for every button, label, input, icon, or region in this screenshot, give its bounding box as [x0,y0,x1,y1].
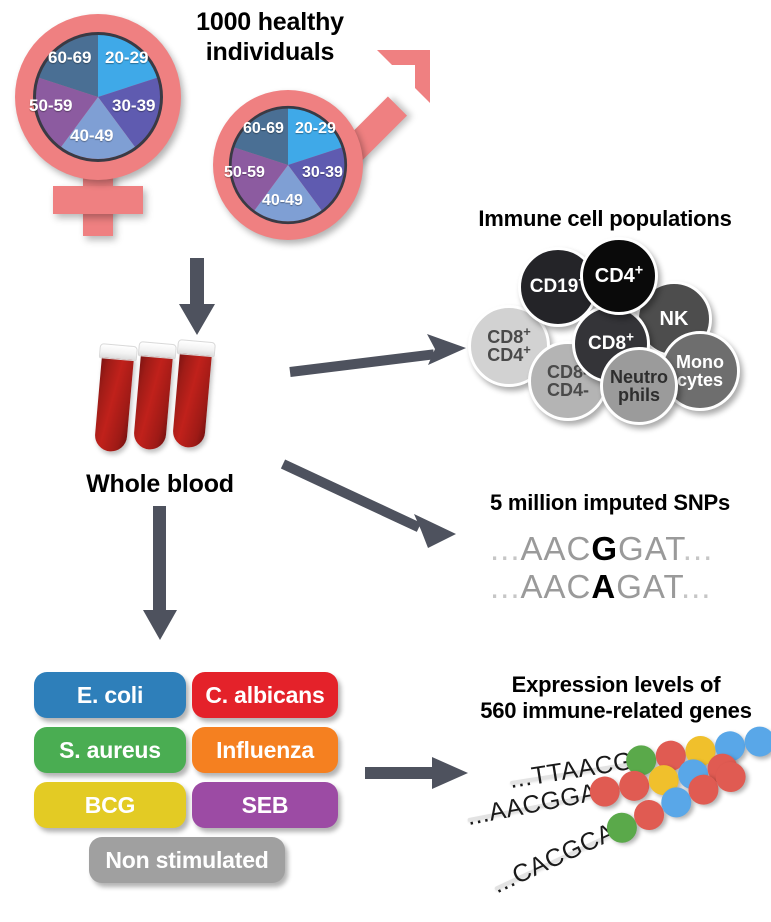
blood-tube-rim [99,343,138,361]
immune-cell-label: CD8+CD4+ [487,328,531,365]
female-slice-label-30-39: 30-39 [112,96,155,116]
stimulus-s-aureus[interactable]: S. aureus [34,727,186,773]
stimulus-e-coli[interactable]: E. coli [34,672,186,718]
blood-tube [171,339,218,452]
cohort-heading-line1: 1000 healthy [182,8,358,38]
blood-tube-body [172,350,212,448]
immune-cell-label: Neutrophils [610,368,668,405]
stimuli-panel: E. coli C. albicans S. aureus Influenza … [34,672,344,892]
blood-tube-body [94,354,134,452]
male-symbol: 20-29 30-39 40-49 50-59 60-69 [210,52,425,252]
stimulus-non-stimulated[interactable]: Non stimulated [89,837,285,883]
male-slice-label-30-39: 30-39 [302,164,343,182]
blood-tube-body [133,352,173,450]
female-slice-label-60-69: 60-69 [48,48,91,68]
snp-sequence-1: ...AACGGAT... [490,530,713,568]
snps-title: 5 million imputed SNPs [455,490,765,516]
immune-cell-cd4p: CD4+ [580,237,658,315]
whole-blood-group [95,335,265,475]
stimulus-influenza[interactable]: Influenza [192,727,338,773]
immune-cell-label: Monocytes [676,353,724,390]
expression-title: Expression levels of 560 immune-related … [466,672,766,724]
male-slice-label-40-49: 40-49 [262,192,303,210]
female-slice-label-50-59: 50-59 [29,96,72,116]
immune-cell-label: CD19+ [530,277,587,296]
male-slice-label-60-69: 60-69 [243,120,284,138]
stimulus-c-albicans[interactable]: C. albicans [192,672,338,718]
female-symbol: 20-29 30-39 40-49 50-59 60-69 [8,8,188,238]
whole-blood-label: Whole blood [60,470,260,500]
immune-populations-title: Immune cell populations [450,206,760,232]
female-slice-label-40-49: 40-49 [70,126,113,146]
female-stem-cross [53,186,143,214]
immune-cell-label: CD4+ [595,266,643,286]
immune-cell-neutrophils: Neutrophils [600,347,678,425]
expression-title-line1: Expression levels of [466,672,766,698]
male-slice-label-50-59: 50-59 [224,164,265,182]
male-arrow-head [355,46,435,126]
male-slice-label-20-29: 20-29 [295,120,336,138]
snp-sequence-2: ...AACAGAT... [490,568,711,606]
expression-title-line2: 560 immune-related genes [466,698,766,724]
blood-tube-rim [177,339,216,357]
rna-bead [743,724,771,758]
female-slice-label-20-29: 20-29 [105,48,148,68]
immune-cell-cluster: CD8+CD4+ CD19+ CD8-CD4- CD4+ CD8+ NK Neu… [460,235,760,420]
blood-tube-rim [138,341,177,359]
stimulus-bcg[interactable]: BCG [34,782,186,828]
immune-cell-label: NK [660,309,689,329]
stimulus-seb[interactable]: SEB [192,782,338,828]
